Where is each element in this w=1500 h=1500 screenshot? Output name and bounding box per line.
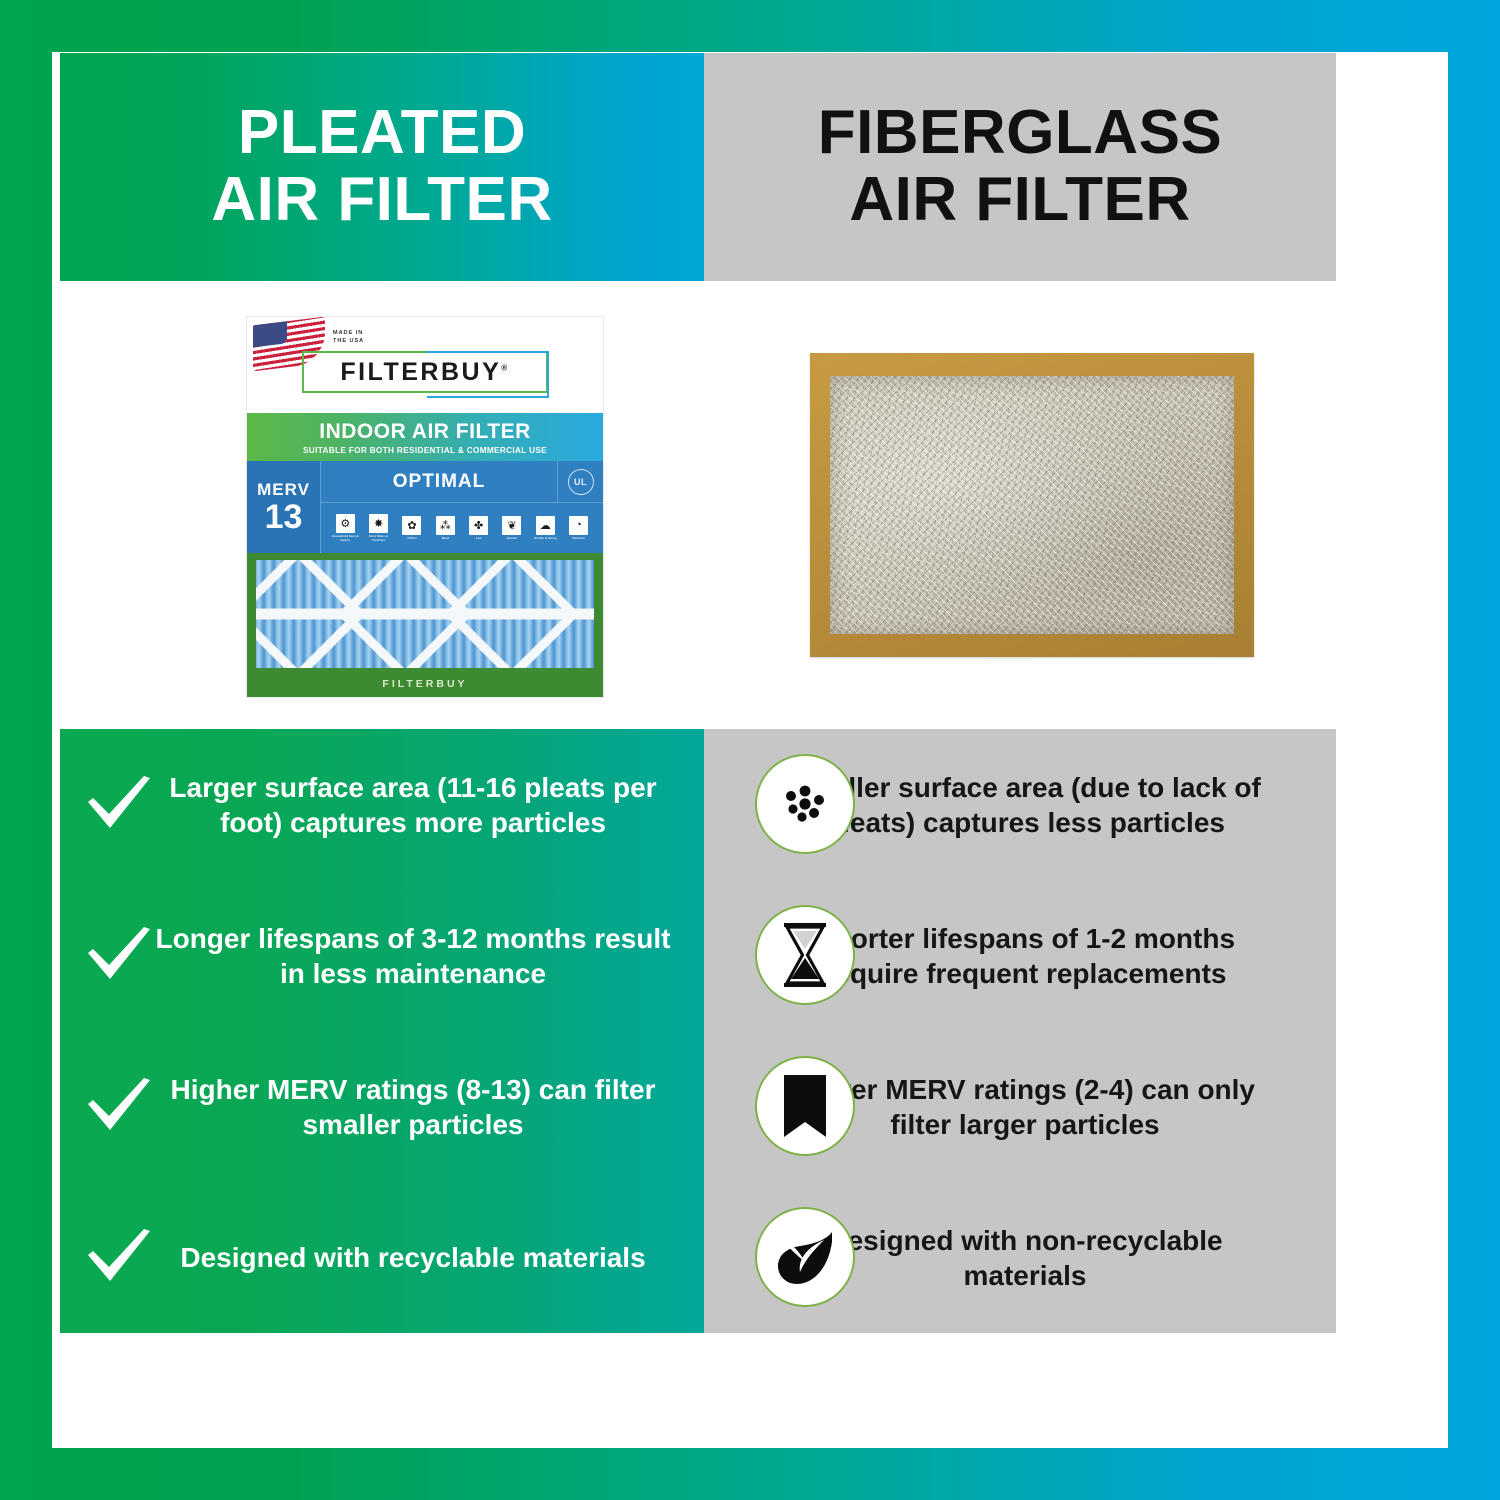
filterbuy-logo-text: FILTERBUY® bbox=[340, 358, 509, 387]
comparison-rows: Larger surface area (11-16 pleats per fo… bbox=[60, 729, 1336, 1333]
dander-icon-label: Dander bbox=[507, 537, 518, 541]
product-image-row: MADE IN THE USA FILTERBUY® INDOOR AIR FI… bbox=[60, 281, 1336, 729]
bookmark-icon-badge bbox=[755, 1056, 855, 1156]
box-footer-brand: FILTERBUY bbox=[247, 678, 603, 690]
capture-icon-row: ⚙Household Dust & Debris✸Dust Mites & Pa… bbox=[321, 503, 603, 553]
bacteria-icon-cell: ◔Bacteria bbox=[565, 516, 593, 541]
header-pleated: PLEATED AIR FILTER bbox=[60, 53, 704, 281]
check-mark-icon bbox=[60, 927, 152, 985]
check-mark-icon bbox=[86, 927, 152, 985]
product-fiberglass-cell bbox=[704, 281, 1336, 729]
fiberglass-mesh-texture bbox=[830, 376, 1234, 634]
dander-icon: ❦ bbox=[502, 516, 521, 535]
box-top-section: MADE IN THE USA FILTERBUY® bbox=[247, 317, 603, 413]
made-in-line1: MADE IN bbox=[333, 329, 364, 337]
comparison-left-text: Designed with recyclable materials bbox=[152, 1240, 674, 1275]
box-spec-right: OPTIMAL UL ⚙Household Dust & Debris✸Dust… bbox=[321, 461, 603, 553]
product-pleated-cell: MADE IN THE USA FILTERBUY® INDOOR AIR FI… bbox=[60, 281, 704, 729]
particles-icon-badge bbox=[755, 754, 855, 854]
made-in-usa-text: MADE IN THE USA bbox=[333, 329, 364, 346]
comparison-left-text: Higher MERV ratings (8-13) can filter sm… bbox=[152, 1072, 674, 1142]
comparison-row-pleated: Larger surface area (11-16 pleats per fo… bbox=[60, 729, 704, 880]
comparison-row-pleated: Designed with recyclable materials bbox=[60, 1182, 704, 1333]
box-band-main: INDOOR AIR FILTER bbox=[319, 420, 531, 444]
dust-debris-icon: ⚙ bbox=[336, 514, 355, 533]
comparison-row: Larger surface area (11-16 pleats per fo… bbox=[60, 729, 1336, 880]
box-grade-row: OPTIMAL UL bbox=[321, 461, 603, 503]
made-in-line2: THE USA bbox=[333, 337, 364, 345]
dander-icon-cell: ❦Dander bbox=[498, 516, 526, 541]
smoke-smog-icon: ☁ bbox=[536, 516, 555, 535]
infographic-page: PLEATED AIR FILTER FIBERGLASS AIR FILTER… bbox=[0, 0, 1500, 1500]
dust-mites-icon-label: Dust Mites & Particles bbox=[365, 535, 393, 543]
lint-icon-label: Lint bbox=[476, 537, 482, 541]
comparison-row: Higher MERV ratings (8-13) can filter sm… bbox=[60, 1031, 1336, 1182]
check-mark-icon bbox=[60, 776, 152, 834]
lint-icon: ✤ bbox=[469, 516, 488, 535]
header-pleated-line2: AIR FILTER bbox=[211, 167, 552, 234]
comparison-row-pleated: Higher MERV ratings (8-13) can filter sm… bbox=[60, 1031, 704, 1182]
hourglass-icon-badge bbox=[755, 905, 855, 1005]
check-mark-icon bbox=[86, 1229, 152, 1287]
pollen-icon-label: Pollen bbox=[407, 537, 416, 541]
header-fiberglass-line1: FIBERGLASS bbox=[818, 100, 1223, 167]
box-pleat-window: FILTERBUY bbox=[247, 553, 603, 697]
comparison-row: Designed with recyclable materialsDesign… bbox=[60, 1182, 1336, 1333]
comparison-section: Larger surface area (11-16 pleats per fo… bbox=[60, 729, 1336, 1333]
header-fiberglass-line2: AIR FILTER bbox=[818, 167, 1223, 234]
header-pleated-line1: PLEATED bbox=[211, 100, 552, 167]
check-mark-icon bbox=[86, 776, 152, 834]
pollen-icon: ✿ bbox=[402, 516, 421, 535]
pollen-icon-cell: ✿Pollen bbox=[398, 516, 426, 541]
check-mark-icon bbox=[86, 1078, 152, 1136]
bacteria-icon-label: Bacteria bbox=[573, 537, 585, 541]
filterbuy-logo-frame: FILTERBUY® bbox=[302, 351, 548, 393]
dust-debris-icon-cell: ⚙Household Dust & Debris bbox=[331, 514, 359, 543]
check-mark-icon bbox=[60, 1078, 152, 1136]
pleat-media bbox=[256, 560, 594, 668]
bacteria-icon: ◔ bbox=[569, 516, 588, 535]
box-indoor-band: INDOOR AIR FILTER SUITABLE FOR BOTH RESI… bbox=[247, 413, 603, 461]
smoke-smog-icon-cell: ☁Smoke & Smog bbox=[531, 516, 559, 541]
comparison-left-text: Longer lifespans of 3-12 months result i… bbox=[152, 921, 674, 991]
header-band: PLEATED AIR FILTER FIBERGLASS AIR FILTER bbox=[60, 53, 1336, 281]
merv-value: 13 bbox=[265, 500, 303, 534]
comparison-row: Longer lifespans of 3-12 months result i… bbox=[60, 880, 1336, 1031]
bookmark-icon bbox=[782, 1074, 828, 1138]
grade-label: OPTIMAL bbox=[321, 461, 557, 502]
merv-label: MERV bbox=[257, 480, 310, 500]
lint-icon-cell: ✤Lint bbox=[465, 516, 493, 541]
box-spec-section: MERV 13 OPTIMAL UL ⚙Household Dust & Deb… bbox=[247, 461, 603, 553]
leaf-icon-badge bbox=[755, 1207, 855, 1307]
ul-icon: UL bbox=[568, 469, 594, 495]
dust-mites-icon-cell: ✸Dust Mites & Particles bbox=[365, 514, 393, 543]
box-band-sub: SUITABLE FOR BOTH RESIDENTIAL & COMMERCI… bbox=[303, 446, 547, 455]
particles-icon bbox=[774, 773, 836, 835]
merv-rating-block: MERV 13 bbox=[247, 461, 321, 553]
fiberglass-filter-photo bbox=[810, 353, 1254, 657]
filterbuy-box-image: MADE IN THE USA FILTERBUY® INDOOR AIR FI… bbox=[247, 317, 603, 697]
mold-icon: ⁂ bbox=[436, 516, 455, 535]
header-pleated-title: PLEATED AIR FILTER bbox=[211, 100, 552, 234]
mesh-diamond bbox=[444, 560, 580, 668]
hourglass-icon bbox=[777, 922, 833, 988]
comparison-left-text: Larger surface area (11-16 pleats per fo… bbox=[152, 770, 674, 840]
dust-debris-icon-label: Household Dust & Debris bbox=[331, 535, 359, 543]
header-fiberglass-title: FIBERGLASS AIR FILTER bbox=[818, 100, 1223, 234]
mold-icon-label: Mold bbox=[442, 537, 449, 541]
header-fiberglass: FIBERGLASS AIR FILTER bbox=[704, 53, 1336, 281]
smoke-smog-icon-label: Smoke & Smog bbox=[534, 537, 557, 541]
mold-icon-cell: ⁂Mold bbox=[431, 516, 459, 541]
dust-mites-icon: ✸ bbox=[369, 514, 388, 533]
leaf-icon bbox=[774, 1226, 836, 1288]
comparison-row-pleated: Longer lifespans of 3-12 months result i… bbox=[60, 880, 704, 1031]
check-mark-icon bbox=[60, 1229, 152, 1287]
ul-certification-badge: UL bbox=[557, 461, 603, 502]
